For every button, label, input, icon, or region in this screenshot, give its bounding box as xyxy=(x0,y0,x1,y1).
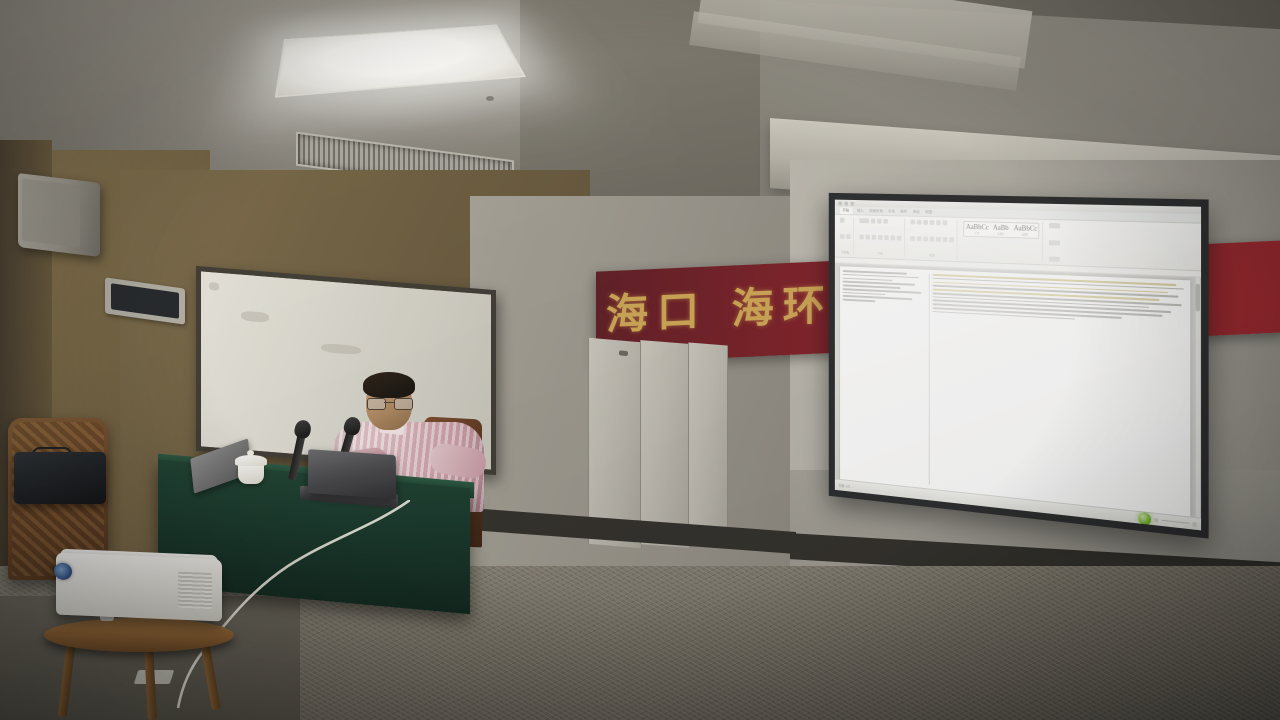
scrollbar-thumb[interactable] xyxy=(1196,284,1200,312)
style-gallery[interactable]: AaBbCc 正文 AaBb 标题1 AaBbCc 标题2 xyxy=(963,221,1039,239)
glasses-lens-left xyxy=(367,398,386,410)
ribbon-group-label: 字体 xyxy=(859,251,901,256)
presenter-laptop-lid[interactable] xyxy=(308,449,396,499)
copy-icon[interactable] xyxy=(846,234,850,239)
italic-icon[interactable] xyxy=(866,235,870,240)
whiteboard-mark xyxy=(321,343,361,355)
wall-panel-screen xyxy=(111,283,179,319)
style-name: 标题1 xyxy=(990,231,1012,236)
find-icon[interactable] xyxy=(1049,223,1060,228)
save-icon[interactable] xyxy=(838,201,841,205)
document-table-column xyxy=(843,270,930,485)
subscript-icon[interactable] xyxy=(884,235,888,240)
document-body[interactable] xyxy=(835,263,1201,518)
redo-icon[interactable] xyxy=(851,201,855,205)
laptop-bag[interactable] xyxy=(14,452,106,504)
whiteboard-mark xyxy=(241,311,269,323)
borders-icon[interactable] xyxy=(949,237,954,242)
line-spacing-icon[interactable] xyxy=(936,237,941,242)
page-indicator: 页面: 1/3 xyxy=(838,483,850,489)
projection-surface: 开始 插入 页面布局 引用 邮件 审阅 视图 xyxy=(835,200,1201,531)
font-family-dropdown[interactable] xyxy=(859,218,869,223)
tab-page-layout[interactable]: 页面布局 xyxy=(869,208,883,213)
style-item-normal[interactable]: AaBbCc 正文 xyxy=(966,223,988,235)
projector-lens-icon xyxy=(54,562,72,580)
select-icon[interactable] xyxy=(1049,256,1060,261)
replace-icon[interactable] xyxy=(1049,240,1060,245)
wooden-stool xyxy=(44,618,234,652)
align-right-icon[interactable] xyxy=(923,236,928,241)
font-color-icon[interactable] xyxy=(897,236,902,241)
glasses-lens-right xyxy=(394,398,413,410)
wall-door-panel[interactable] xyxy=(688,342,728,545)
projector-vent xyxy=(178,572,212,609)
teacup-knob xyxy=(247,450,254,456)
tab-mailings[interactable]: 邮件 xyxy=(900,209,907,214)
speaker-grille xyxy=(22,178,80,247)
document-text-column xyxy=(932,274,1187,512)
projection-screen: 开始 插入 页面布局 引用 邮件 审阅 视图 xyxy=(829,193,1209,539)
multilevel-list-icon[interactable] xyxy=(923,220,928,225)
ribbon-group-clipboard[interactable]: 剪贴板 xyxy=(837,217,854,256)
paste-icon[interactable] xyxy=(840,218,844,223)
wall-speaker-icon xyxy=(18,173,100,257)
teacup-lid xyxy=(235,455,267,466)
word-application-window: 开始 插入 页面布局 引用 邮件 审阅 视图 xyxy=(835,200,1201,531)
style-item-heading2[interactable]: AaBbCc 标题2 xyxy=(1014,224,1036,237)
justify-icon[interactable] xyxy=(930,237,935,242)
align-left-icon[interactable] xyxy=(910,236,915,241)
align-center-icon[interactable] xyxy=(917,236,922,241)
glasses-icon xyxy=(367,398,411,408)
tab-view[interactable]: 视图 xyxy=(925,210,932,215)
vertical-scrollbar[interactable] xyxy=(1196,277,1200,517)
tab-review[interactable]: 审阅 xyxy=(913,209,920,214)
zoom-out-icon[interactable] xyxy=(1154,517,1158,522)
video-projector[interactable] xyxy=(56,553,222,622)
ribbon-group-styles[interactable]: AaBbCc 正文 AaBb 标题1 AaBbCc 标题2 xyxy=(960,220,1043,262)
document-page[interactable] xyxy=(840,266,1190,516)
zoom-slider[interactable] xyxy=(1162,519,1190,524)
wall-door-panel[interactable] xyxy=(640,340,690,548)
whiteboard-mark xyxy=(209,282,219,291)
ribbon-group-paragraph[interactable]: 段落 xyxy=(908,218,958,259)
grow-font-icon[interactable] xyxy=(877,219,881,224)
presenter-hair xyxy=(363,372,415,398)
numbering-icon[interactable] xyxy=(917,220,922,225)
glasses-bridge xyxy=(384,402,394,403)
bold-icon[interactable] xyxy=(859,234,863,239)
style-name: 标题2 xyxy=(1014,232,1036,237)
cut-icon[interactable] xyxy=(840,234,844,239)
ribbon-group-label: 段落 xyxy=(910,253,953,258)
ribbon-group-editing[interactable] xyxy=(1046,222,1063,263)
decrease-indent-icon[interactable] xyxy=(930,220,935,225)
door-knob-icon[interactable] xyxy=(619,350,628,356)
strikethrough-icon[interactable] xyxy=(878,235,882,240)
tab-insert[interactable]: 插入 xyxy=(857,208,864,213)
undo-icon[interactable] xyxy=(844,201,848,205)
increase-indent-icon[interactable] xyxy=(936,220,941,225)
ribbon-group-label: 剪贴板 xyxy=(840,250,850,254)
zoom-in-icon[interactable] xyxy=(1192,522,1196,527)
shading-icon[interactable] xyxy=(943,237,948,242)
text-line xyxy=(843,299,876,302)
style-name: 正文 xyxy=(966,231,988,236)
underline-icon[interactable] xyxy=(872,235,876,240)
font-size-dropdown[interactable] xyxy=(871,219,875,224)
bullets-icon[interactable] xyxy=(910,220,915,225)
ceiling-fixture-dot xyxy=(486,96,494,101)
shrink-font-icon[interactable] xyxy=(883,219,887,224)
photo-scene: 海口 海环院 环 境 开始 插入 页面布局 xyxy=(0,0,1280,720)
tab-references[interactable]: 引用 xyxy=(888,209,895,214)
style-item-heading1[interactable]: AaBb 标题1 xyxy=(990,224,1012,237)
sort-icon[interactable] xyxy=(943,220,948,225)
status-indicator-icon[interactable] xyxy=(1138,511,1151,525)
tab-home[interactable]: 开始 xyxy=(840,207,852,214)
text-highlight-icon[interactable] xyxy=(891,235,896,240)
ribbon-group-font[interactable]: 字体 xyxy=(857,217,905,257)
status-left: 页面: 1/3 xyxy=(838,483,850,489)
